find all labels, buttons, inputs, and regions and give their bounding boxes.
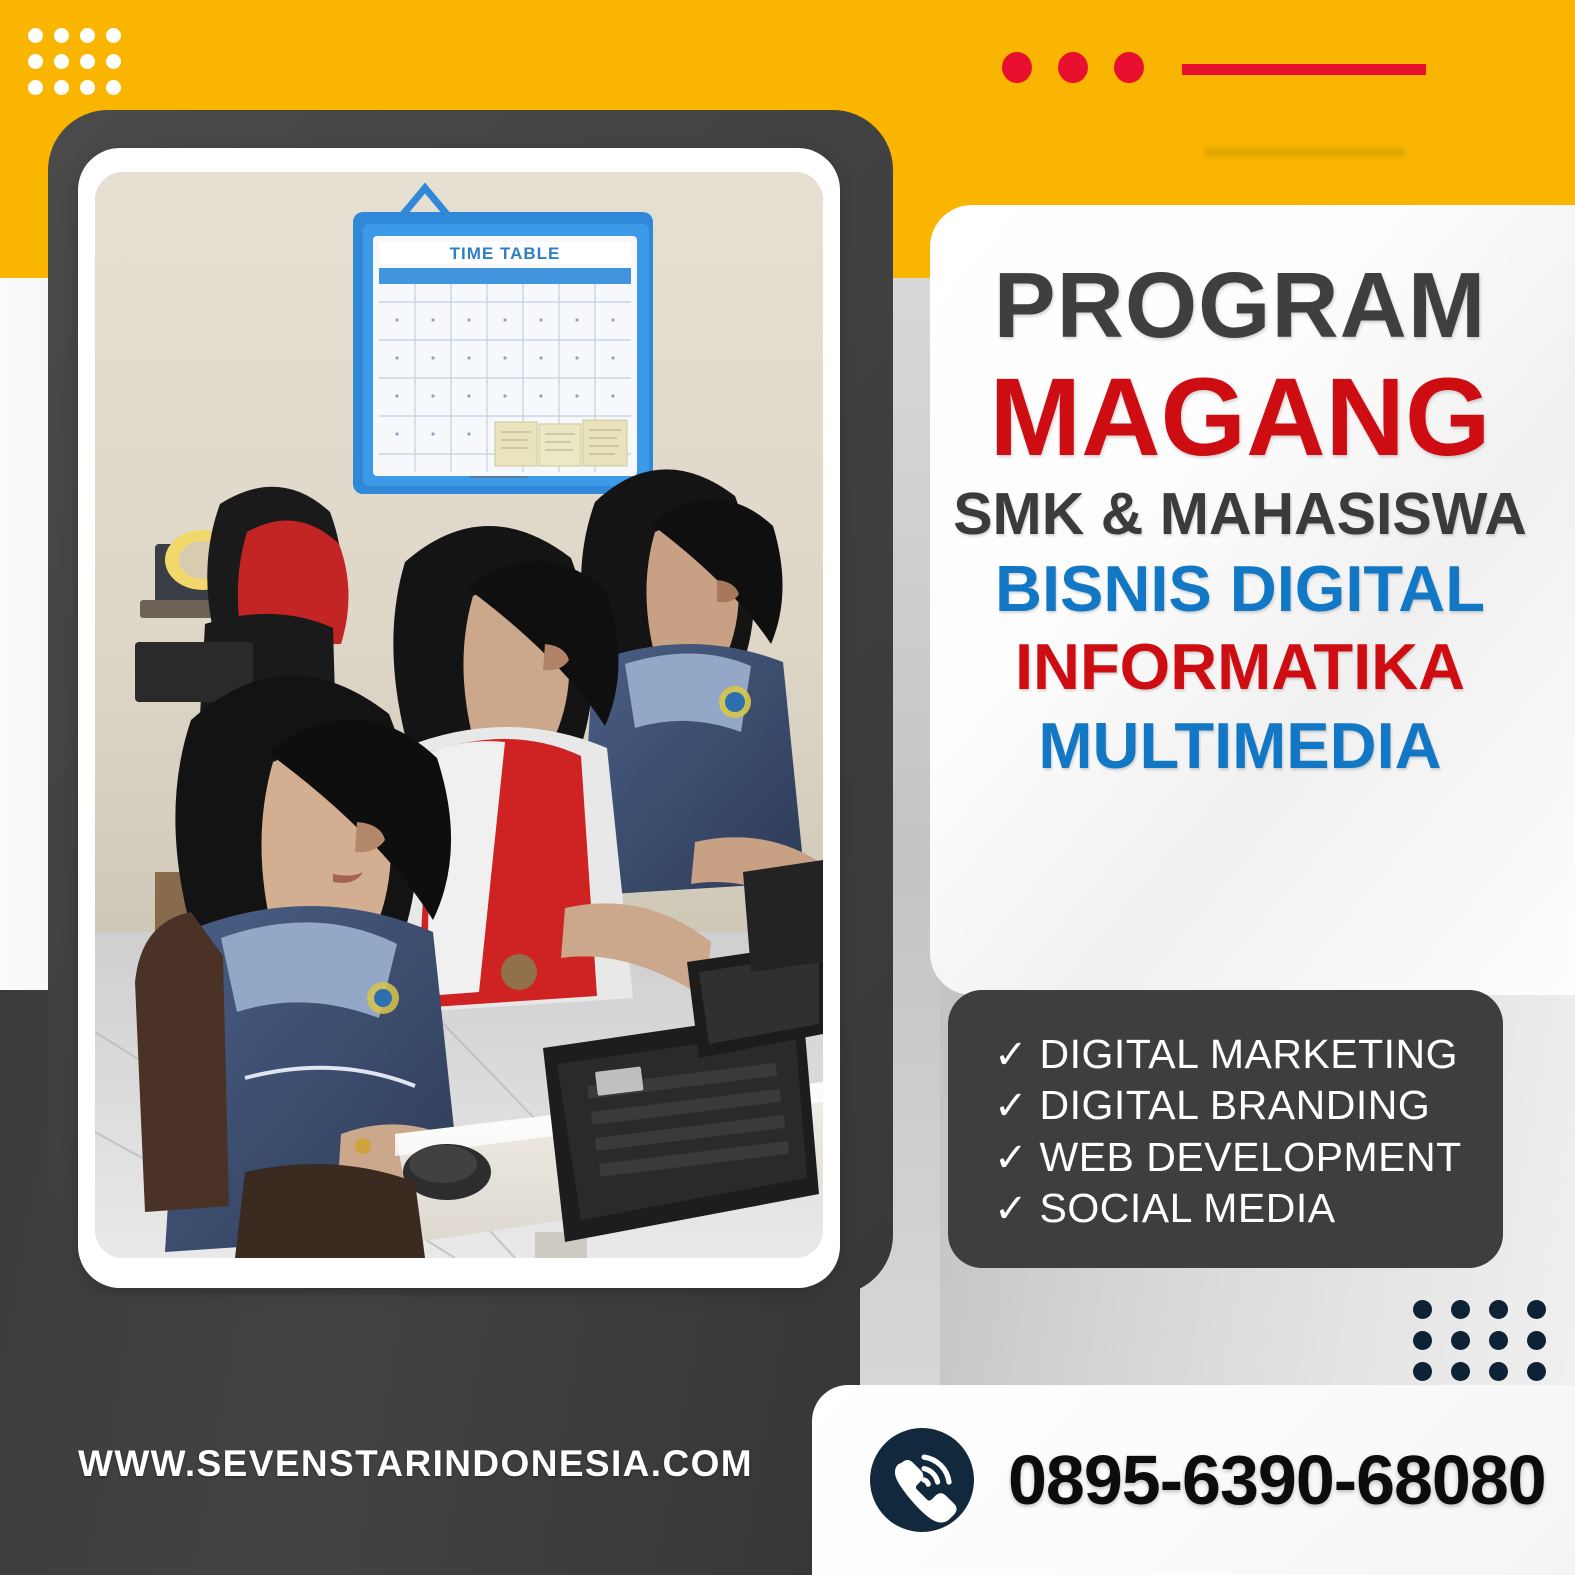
service-label: SOCIAL MEDIA [1040, 1186, 1336, 1230]
service-label: WEB DEVELOPMENT [1040, 1135, 1462, 1179]
headline-block: PROGRAM MAGANG SMK & MAHASISWA BISNIS DI… [930, 258, 1550, 783]
headline-informatika: INFORMATIKA [930, 631, 1550, 704]
contact-card: 0895-6390-68080 [812, 1385, 1575, 1575]
phone-number[interactable]: 0895-6390-68080 [1008, 1440, 1546, 1520]
headline-multimedia: MULTIMEDIA [930, 710, 1550, 783]
dot [1451, 1362, 1470, 1381]
dot [80, 28, 95, 43]
dot [54, 28, 69, 43]
sticky-notes [495, 420, 627, 466]
dot [106, 80, 121, 95]
service-item: ✓ SOCIAL MEDIA [994, 1186, 1503, 1230]
dot [1451, 1300, 1470, 1319]
headline-bisnis: BISNIS DIGITAL [930, 553, 1550, 626]
headline-program: PROGRAM [930, 258, 1550, 353]
phone-call-icon[interactable] [870, 1428, 974, 1532]
dot [28, 28, 43, 43]
classroom-photo: TIME TABLE [95, 172, 823, 1258]
dot [1527, 1300, 1546, 1319]
dot-grid-topleft [28, 28, 132, 106]
olive-accent-bar [1205, 148, 1405, 157]
red-dot [1114, 52, 1144, 83]
dot [54, 54, 69, 69]
services-list: ✓ DIGITAL MARKETING ✓ DIGITAL BRANDING ✓… [948, 990, 1503, 1268]
red-dot [1058, 52, 1088, 83]
dot [1489, 1300, 1508, 1319]
dot [1413, 1331, 1432, 1350]
red-accent-bar [1182, 64, 1426, 75]
service-label: DIGITAL MARKETING [1040, 1032, 1459, 1076]
dot [106, 54, 121, 69]
dot [1451, 1331, 1470, 1350]
dot [80, 80, 95, 95]
red-dot [1002, 52, 1032, 83]
dot [28, 80, 43, 95]
dot [80, 54, 95, 69]
dot [28, 54, 43, 69]
service-item: ✓ DIGITAL MARKETING [994, 1032, 1503, 1076]
dot-grid-bottomright [1413, 1300, 1565, 1393]
svg-text:TIME TABLE: TIME TABLE [450, 244, 561, 263]
dot [1489, 1362, 1508, 1381]
dot [1527, 1331, 1546, 1350]
dot [1413, 1300, 1432, 1319]
headline-magang: MAGANG [930, 359, 1550, 478]
red-dot-group [1002, 52, 1144, 83]
dot [1489, 1331, 1508, 1350]
dot [54, 80, 69, 95]
check-icon: ✓ [994, 1035, 1028, 1075]
time-table-board: TIME TABLE [353, 188, 653, 494]
photo-illustration: TIME TABLE [95, 172, 823, 1258]
service-label: DIGITAL BRANDING [1040, 1083, 1431, 1127]
dot [1527, 1362, 1546, 1381]
service-item: ✓ DIGITAL BRANDING [994, 1083, 1503, 1127]
check-icon: ✓ [994, 1086, 1028, 1126]
dot [106, 28, 121, 43]
dot [1413, 1362, 1432, 1381]
check-icon: ✓ [994, 1189, 1028, 1229]
headline-smk: SMK & MAHASISWA [930, 482, 1550, 547]
website-url[interactable]: WWW.SEVENSTARINDONESIA.COM [78, 1443, 778, 1485]
service-item: ✓ WEB DEVELOPMENT [994, 1135, 1503, 1179]
check-icon: ✓ [994, 1138, 1028, 1178]
